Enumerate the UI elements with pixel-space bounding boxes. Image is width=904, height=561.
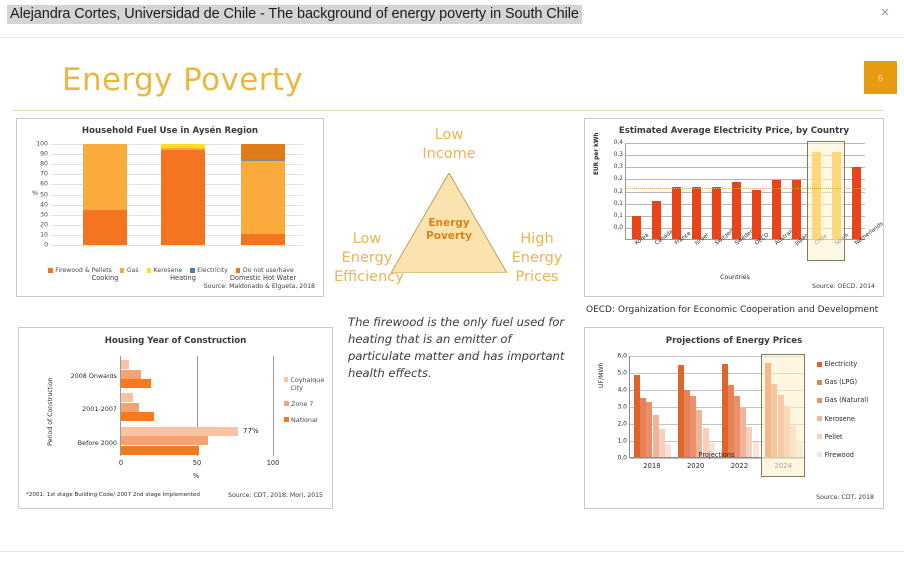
- legend-item: Do not use/have: [236, 267, 294, 274]
- bar-segment: [83, 144, 127, 210]
- header-divider: [12, 110, 884, 111]
- y-axis-tick: 80: [40, 161, 48, 168]
- bar-column: [752, 190, 761, 239]
- bar-row: [121, 379, 151, 388]
- legend-swatch: [817, 452, 822, 457]
- legend-label: Gas: [127, 267, 139, 274]
- legend-item: Gas (Natural): [817, 396, 869, 404]
- y-axis-tick: 2,0: [617, 421, 627, 428]
- bar-row: [121, 403, 139, 412]
- legend-swatch: [284, 401, 289, 406]
- y-axis-tick: 70: [40, 171, 48, 178]
- page-number-badge: 6: [864, 61, 897, 94]
- legend-swatch: [817, 362, 822, 367]
- chart-source: Source: Maldonado & Elgueta, 2018: [204, 283, 315, 290]
- chart-y-axis-title: UF/MWh: [598, 362, 605, 388]
- bar-row: [121, 393, 133, 402]
- bar-column: [732, 182, 741, 239]
- gridline: [51, 245, 303, 246]
- x-axis-tick: 50: [193, 459, 201, 467]
- bar-column: [83, 144, 127, 245]
- chart-y-axis-title: Period of Construction: [47, 377, 54, 446]
- legend-item: Kerosene: [147, 267, 183, 274]
- chart-title: Projections of Energy Prices: [585, 336, 883, 346]
- bar-column: [684, 390, 690, 457]
- legend-item: Firewood: [817, 451, 869, 459]
- legend-label: Do not use/have: [243, 267, 294, 274]
- chart-source: Source: CDT, 2018; Mori, 2015: [228, 492, 323, 499]
- bar-column: [712, 187, 721, 239]
- legend-swatch: [817, 398, 822, 403]
- legend-item: Firewood & Pellets: [48, 267, 112, 274]
- y-axis-tick: 0,2: [614, 176, 623, 182]
- close-icon[interactable]: ×: [877, 5, 893, 21]
- gridline: [273, 356, 274, 456]
- bar-column: [696, 410, 702, 457]
- bar-column: [161, 144, 205, 245]
- legend-item: Kerosene: [817, 415, 869, 423]
- x-axis-tick: 2022: [731, 462, 748, 470]
- chart-plot-area: 0102030405060708090100CookingHeatingDome…: [51, 144, 303, 245]
- legend-label: Kerosene: [825, 415, 855, 423]
- y-axis-tick: 90: [40, 151, 48, 158]
- y-axis-tick: 0,0: [614, 225, 623, 231]
- x-axis-tick: 0: [119, 459, 123, 467]
- legend-item: National: [284, 416, 332, 424]
- y-axis-tick: 1,0: [617, 438, 627, 445]
- y-axis-tick: 5,0: [617, 370, 627, 377]
- x-axis-tick: Domestic Hot Water: [218, 274, 308, 282]
- y-axis-tick: 0,0: [617, 455, 627, 462]
- chart-legend: Firewood & PelletsGasKeroseneElectricity…: [17, 267, 325, 274]
- chart-title: Housing Year of Construction: [19, 336, 332, 346]
- page-title: Energy Poverty: [62, 62, 303, 98]
- chart-housing-year-of-construction: Housing Year of Construction Period of C…: [18, 327, 333, 509]
- chart-plot-area: 0,01,02,03,04,05,06,02018202020222024: [629, 356, 804, 458]
- reference-line: [626, 188, 865, 189]
- x-axis-tick: Heating: [138, 274, 228, 282]
- bar-column: [692, 187, 701, 239]
- bar-column: [652, 201, 661, 239]
- legend-item: Gas (LPG): [817, 378, 869, 386]
- x-axis-tick: 2018: [643, 462, 660, 470]
- chart-plot-area: 0,40,30,30,20,20,10,10,0KoreaCanadaFranc…: [625, 143, 865, 240]
- chart-legend: ElectricityGas (LPG)Gas (Natural)Kerosen…: [817, 360, 869, 469]
- legend-label: Firewood & Pellets: [55, 267, 112, 274]
- bar-segment: [241, 161, 285, 234]
- x-axis-tick: Cooking: [60, 274, 150, 282]
- chart-projections-energy-prices: Projections of Energy Prices UF/MWh 0,01…: [584, 327, 884, 509]
- bar-segment: [161, 148, 205, 150]
- footer-divider: [0, 551, 904, 552]
- y-axis-tick: 30: [40, 211, 48, 218]
- legend-swatch: [236, 268, 241, 273]
- bar-column: [728, 385, 734, 457]
- legend-label: Zone 7: [291, 400, 313, 408]
- y-axis-tick: 100: [36, 141, 48, 148]
- bar-segment: [161, 144, 205, 148]
- y-axis-tick: 50: [40, 191, 48, 198]
- triangle-label-low-energy-efficiency: Low Energy Efficiency: [334, 230, 400, 287]
- bar-column: [634, 375, 640, 457]
- legend-item: Gas: [120, 267, 139, 274]
- legend-swatch: [48, 268, 53, 273]
- bar-column: [690, 396, 696, 457]
- legend-label: Gas (Natural): [825, 396, 869, 404]
- y-axis-tick: 6,0: [617, 353, 627, 360]
- bar-row: [121, 360, 129, 369]
- y-axis-tick: 20: [40, 221, 48, 228]
- bar-row: [121, 370, 141, 379]
- oecd-abbreviation-note: OECD: Organization for Economic Cooperat…: [586, 305, 878, 315]
- chart-title: Estimated Average Electricity Price, by …: [585, 126, 883, 136]
- y-axis-tick: 60: [40, 181, 48, 188]
- highlight-box: [807, 141, 845, 261]
- bar-column: [241, 144, 285, 245]
- chart-footnote: *2001: 1st stage Building Code/ 2007 2nd…: [26, 492, 200, 498]
- y-axis-tick: 0,3: [614, 152, 623, 158]
- chart-title: Household Fuel Use in Aysén Region: [17, 126, 323, 136]
- bar-column: [852, 167, 861, 239]
- chart-x-axis-title: %: [120, 472, 272, 480]
- bar-column: [734, 396, 740, 457]
- y-axis-tick: 0,4: [614, 140, 623, 146]
- legend-label: Electricity: [825, 360, 858, 368]
- y-axis-tick: 2008 Onwards: [71, 372, 117, 380]
- chart-y-axis-title: EUR per kWh: [594, 133, 600, 175]
- firewood-health-note: The firewood is the only fuel used for h…: [348, 314, 576, 382]
- chart-plot-area: 0501002008 Onwards2001-2007Before 200077…: [120, 356, 272, 456]
- y-axis-tick: 0,2: [614, 189, 623, 195]
- y-axis-tick: 40: [40, 201, 48, 208]
- chart-source: Source: CDT, 2018: [816, 494, 874, 501]
- window-title: Alejandra Cortes, Universidad de Chile -…: [7, 5, 582, 24]
- y-axis-tick: 10: [40, 231, 48, 238]
- data-label: 77%: [243, 427, 259, 435]
- bar-column: [640, 398, 646, 457]
- legend-label: Electricity: [197, 267, 228, 274]
- legend-swatch: [147, 268, 152, 273]
- y-axis-tick: 0,1: [614, 213, 623, 219]
- chart-household-fuel-use: Household Fuel Use in Aysén Region % 010…: [16, 118, 324, 297]
- triangle-center-label: Energy Poverty: [419, 217, 479, 243]
- chart-x-axis-title: Countries: [585, 274, 885, 281]
- bar-column: [672, 187, 681, 239]
- legend-item: Coyhaique City: [284, 376, 332, 392]
- bar-row: [121, 446, 199, 455]
- legend-label: Pellet: [825, 433, 843, 441]
- legend-label: Firewood: [825, 451, 854, 459]
- chart-source: Source: OECD, 2014: [812, 283, 875, 290]
- legend-swatch: [817, 416, 822, 421]
- legend-label: Coyhaique City: [290, 376, 332, 392]
- legend-label: Kerosene: [154, 267, 183, 274]
- legend-item: Electricity: [817, 360, 869, 368]
- y-axis-tick: 0,3: [614, 164, 623, 170]
- y-axis-tick: 0,1: [614, 201, 623, 207]
- window-titlebar: Alejandra Cortes, Universidad de Chile -…: [0, 0, 904, 31]
- legend-swatch: [817, 434, 822, 439]
- bar-segment: [161, 150, 205, 245]
- bar-column: [722, 364, 728, 457]
- energy-poverty-triangle: Low Income Low Energy Efficiency High En…: [336, 118, 582, 304]
- bar-column: [740, 407, 746, 457]
- triangle-label-low-income: Low Income: [399, 126, 499, 164]
- chart-y-axis-title: %: [32, 189, 38, 197]
- x-axis-tick: 2020: [687, 462, 704, 470]
- chart-legend: Coyhaique CityZone 7National: [284, 376, 332, 432]
- bar-column: [678, 365, 684, 457]
- legend-label: National: [291, 416, 318, 424]
- y-axis-tick: 2001-2007: [82, 405, 117, 413]
- legend-item: Zone 7: [284, 400, 332, 408]
- bar-segment: [83, 210, 127, 245]
- legend-swatch: [190, 268, 195, 273]
- bar-segment-divider: [241, 159, 285, 162]
- y-axis-tick: 3,0: [617, 404, 627, 411]
- legend-item: Pellet: [817, 433, 869, 441]
- y-axis-tick: 0: [44, 242, 48, 249]
- bar-row: [121, 436, 208, 445]
- legend-item: Electricity: [190, 267, 228, 274]
- bar-row: [121, 412, 154, 421]
- legend-swatch: [284, 377, 288, 382]
- y-axis-tick: Before 2000: [78, 439, 117, 447]
- chart-x-axis-title: Projections: [629, 451, 804, 459]
- slide-page: Alejandra Cortes, Universidad de Chile -…: [0, 0, 904, 561]
- legend-label: Gas (LPG): [825, 378, 858, 386]
- triangle-label-high-energy-prices: High Energy Prices: [506, 230, 568, 287]
- titlebar-divider: [0, 37, 904, 38]
- bar-segment: [241, 234, 285, 245]
- bar-column: [646, 402, 652, 457]
- legend-swatch: [817, 380, 822, 385]
- bar-row: [121, 427, 238, 436]
- legend-swatch: [120, 268, 125, 273]
- legend-swatch: [284, 417, 289, 422]
- bar-column: [632, 216, 641, 239]
- x-axis-tick: 100: [267, 459, 280, 467]
- chart-electricity-price: Estimated Average Electricity Price, by …: [584, 118, 884, 297]
- y-axis-tick: 4,0: [617, 387, 627, 394]
